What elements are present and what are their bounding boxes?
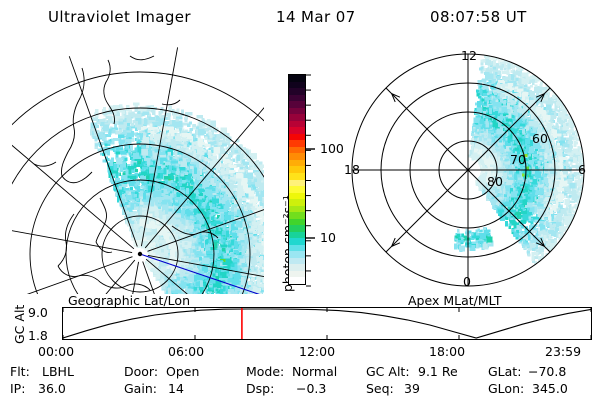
status-gain-value: 14 xyxy=(168,381,184,396)
instrument-title: Ultraviolet Imager xyxy=(48,8,191,26)
orbit-x-tick-3: 18:00 xyxy=(429,344,465,359)
orbit-x-tick-4: 23:59 xyxy=(545,344,581,359)
observation-date: 14 Mar 07 xyxy=(276,8,356,26)
colorbar-tick-label-100: 100 xyxy=(320,141,344,156)
status-dsp-label: Dsp: xyxy=(246,381,274,396)
status-footer: Flt: LBHL Door: Open Mode: Normal GC Alt… xyxy=(0,364,600,398)
orbit-altitude-curve xyxy=(63,308,591,339)
orbit-altitude-plot[interactable] xyxy=(62,307,592,340)
status-glon-label: GLon: xyxy=(488,381,524,396)
status-door-value: Open xyxy=(166,364,199,379)
apex-dial-grid xyxy=(352,54,584,286)
mlat-label-70: 70 xyxy=(510,152,526,167)
mlat-label-80: 80 xyxy=(487,174,503,189)
mlt-label-12: 12 xyxy=(461,48,477,63)
orbit-x-tick-2: 12:00 xyxy=(299,344,335,359)
status-gcalt-label: GC Alt: xyxy=(366,364,410,379)
status-door-label: Door: xyxy=(124,364,158,379)
geographic-plot xyxy=(12,46,264,294)
colorbar-ticks xyxy=(306,74,318,287)
colorbar-tick-label-10: 10 xyxy=(320,230,336,245)
status-gcalt-value: 9.1 Re xyxy=(418,364,458,379)
apex-panel[interactable]: 12 6 0 18 60 70 80 xyxy=(342,46,594,294)
apex-polar-plot xyxy=(342,46,594,294)
status-seq-label: Seq: xyxy=(366,381,394,396)
pole-marker xyxy=(138,252,142,256)
geographic-panel[interactable] xyxy=(12,46,264,294)
orbit-x-tick-1: 06:00 xyxy=(168,344,204,359)
orbit-x-tick-0: 00:00 xyxy=(38,344,74,359)
mlt-label-18: 18 xyxy=(344,162,360,177)
observation-time: 08:07:58 UT xyxy=(430,8,527,26)
status-glon-value: 345.0 xyxy=(532,381,568,396)
status-ip-value: 36.0 xyxy=(38,381,66,396)
right-panel-caption: Apex MLat/MLT xyxy=(408,293,502,308)
status-glat-label: GLat: xyxy=(488,364,521,379)
status-seq-value: 39 xyxy=(404,381,420,396)
orbit-y-tick-min: 1.8 xyxy=(28,328,48,343)
colorbar-panel: photon cm⁻²s⁻¹ 100 10 xyxy=(266,60,336,296)
status-ip-label: IP: xyxy=(10,381,25,396)
left-panel-caption: Geographic Lat/Lon xyxy=(68,293,190,308)
mlt-label-6: 6 xyxy=(578,162,586,177)
mlat-label-60: 60 xyxy=(532,131,548,146)
orbit-y-tick-max: 9.0 xyxy=(28,305,48,320)
status-mode-label: Mode: xyxy=(246,364,284,379)
status-flt-label: Flt: xyxy=(10,364,30,379)
orbit-y-axis-label: GC Alt xyxy=(12,305,27,344)
aurora-emission-geographic xyxy=(90,103,264,295)
status-dsp-value: −0.3 xyxy=(296,381,326,396)
colorbar-gradient[interactable] xyxy=(288,74,306,285)
mlt-label-0: 0 xyxy=(463,274,471,289)
status-mode-value: Normal xyxy=(292,364,337,379)
status-gain-label: Gain: xyxy=(124,381,157,396)
status-flt-value: LBHL xyxy=(42,364,74,379)
uvi-summary-page: Ultraviolet Imager 14 Mar 07 08:07:58 UT… xyxy=(0,0,600,400)
status-glat-value: −70.8 xyxy=(528,364,566,379)
